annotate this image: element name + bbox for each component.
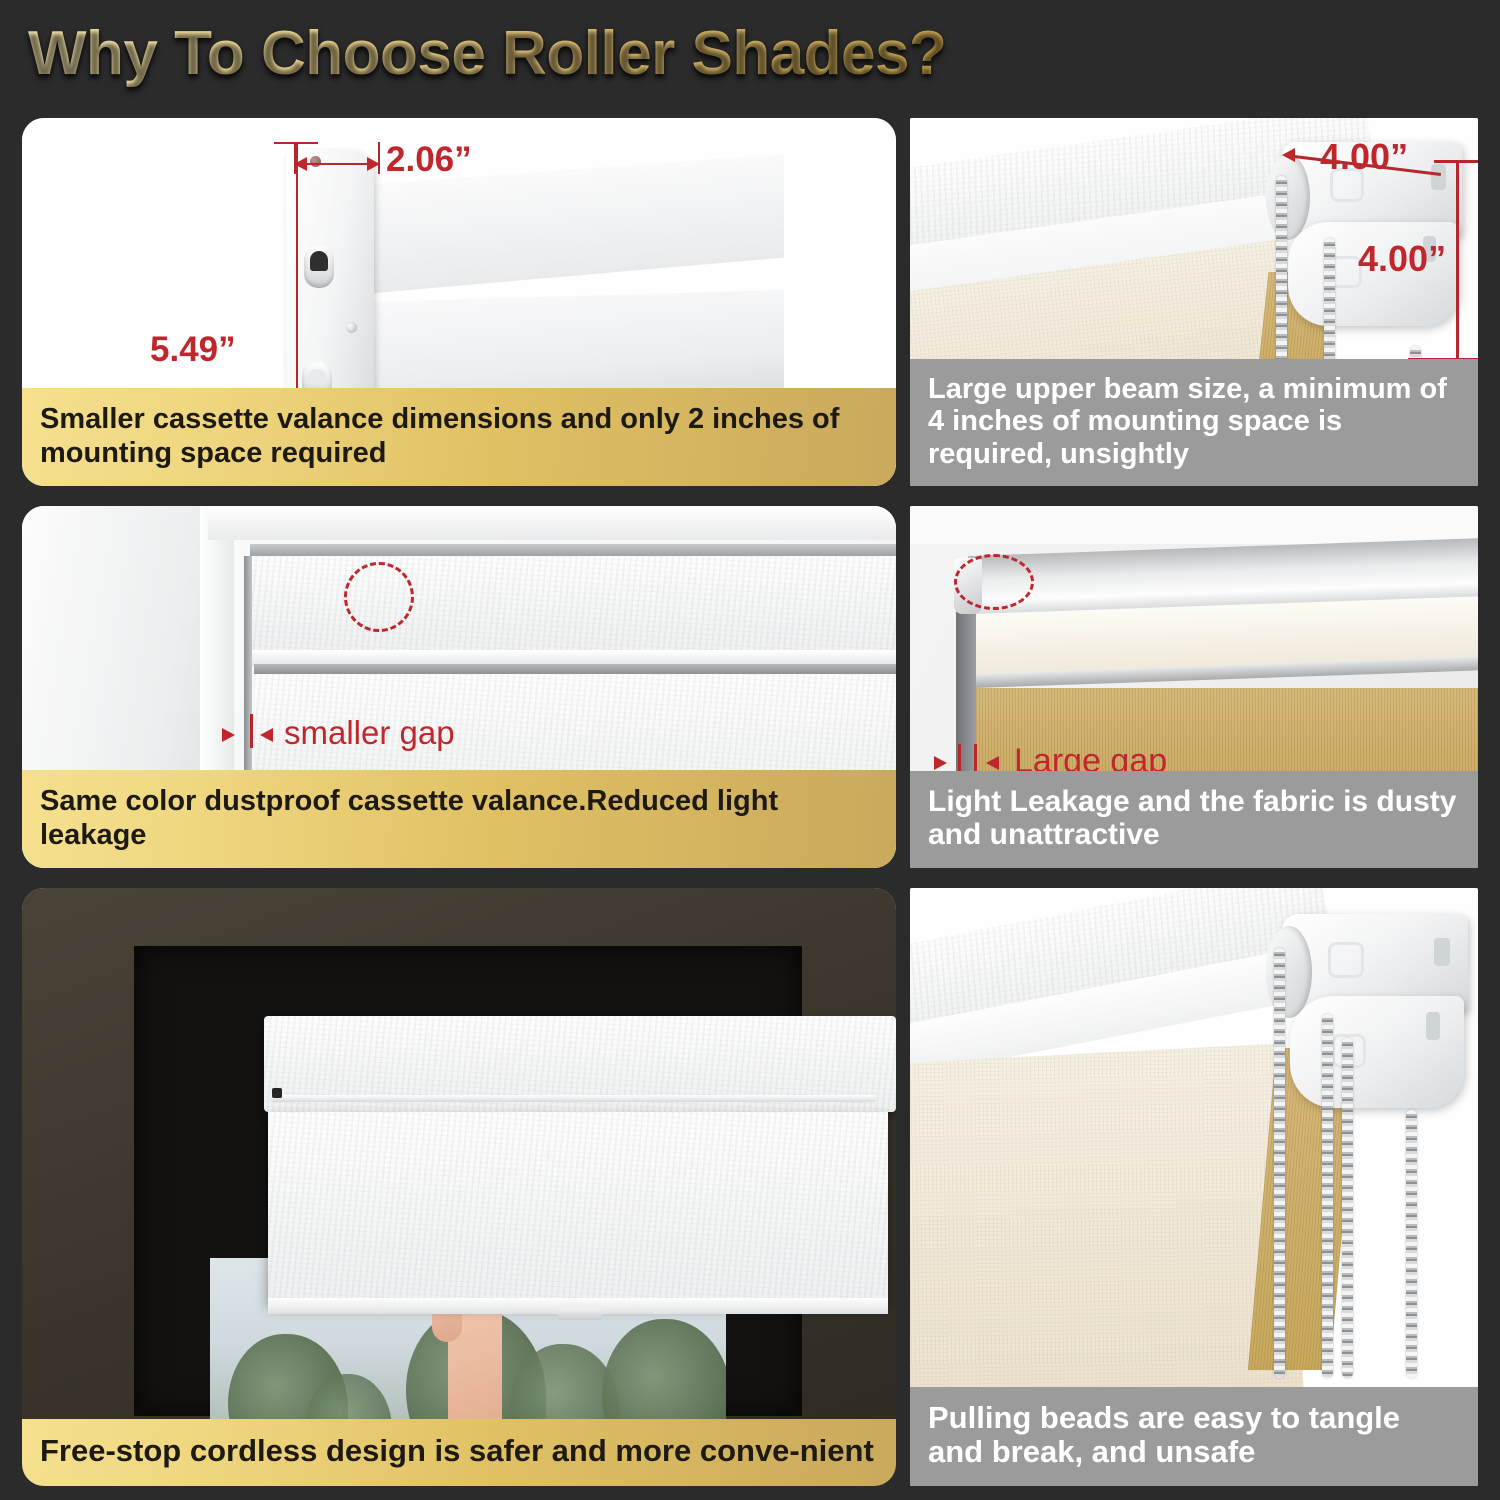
caption-large-upper-beam: Large upper beam size, a minimum of 4 in… bbox=[910, 359, 1478, 486]
width-dimension-label: 2.06” bbox=[386, 140, 472, 180]
beam-width-arrow-left bbox=[1282, 148, 1295, 162]
panel-smaller-cassette-valance: 2.06” 5.49” Smaller cassette valance dim… bbox=[22, 118, 896, 486]
mounting-bracket-lower bbox=[1290, 996, 1464, 1108]
highlight-circle-icon bbox=[344, 562, 414, 632]
scene-pull-tab bbox=[558, 1308, 602, 1320]
panel-large-upper-beam: 4.00” 4.00” Large upper beam size, a min… bbox=[910, 118, 1478, 486]
beam-height-label: 4.00” bbox=[1358, 238, 1446, 280]
infographic-page: Why To Choose Roller Shades? bbox=[0, 0, 1500, 1500]
bead-chain-1 bbox=[1274, 948, 1285, 1378]
gap-arrow-right bbox=[986, 756, 999, 770]
room-scene-photo bbox=[22, 888, 896, 1486]
highlight-circle-icon bbox=[954, 554, 1034, 610]
caption-dustproof-cassette-valance: Same color dustproof cassette valance.Re… bbox=[22, 770, 896, 868]
window-recess bbox=[134, 946, 802, 1416]
height-dimension-label: 5.49” bbox=[150, 330, 236, 370]
smaller-gap-label: smaller gap bbox=[284, 714, 455, 752]
gap-arrow-right bbox=[260, 728, 273, 742]
valance-shadow-line bbox=[250, 544, 896, 556]
width-dim-line bbox=[298, 163, 378, 165]
panel-dustproof-cassette-valance: smaller gap Same color dustproof cassett… bbox=[22, 506, 896, 868]
panel-pulling-beads: Pulling beads are easy to tangle and bre… bbox=[910, 888, 1478, 1486]
comparison-grid: 2.06” 5.49” Smaller cassette valance dim… bbox=[22, 118, 1478, 1486]
window-frame-top bbox=[208, 506, 896, 540]
bead-chain-2 bbox=[1322, 1014, 1333, 1378]
beam-height-top-tick bbox=[1434, 160, 1478, 163]
cream-fabric-panel bbox=[910, 1043, 1304, 1413]
bead-chain-3 bbox=[1342, 1038, 1353, 1378]
width-dim-arrow-right bbox=[367, 157, 380, 171]
height-dim-top-tick bbox=[274, 142, 318, 144]
gap-arrow-left bbox=[222, 728, 235, 742]
caption-light-leakage: Light Leakage and the fabric is dusty an… bbox=[910, 771, 1478, 868]
bead-chain-4 bbox=[1406, 1110, 1417, 1378]
caption-pulling-beads: Pulling beads are easy to tangle and bre… bbox=[910, 1387, 1478, 1486]
roller-end-disc bbox=[1266, 926, 1312, 1018]
gap-tick bbox=[250, 714, 253, 748]
gap-arrow-left bbox=[934, 756, 947, 770]
caption-smaller-cassette-valance: Smaller cassette valance dimensions and … bbox=[22, 388, 896, 486]
beam-width-label: 4.00” bbox=[1320, 136, 1408, 178]
beam-height-dim-line bbox=[1456, 160, 1459, 360]
panel-light-leakage: Large gap Light Leakage and the fabric i… bbox=[910, 506, 1478, 868]
panel-free-stop-cordless: Free-stop cordless design is safer and m… bbox=[22, 888, 896, 1486]
page-title: Why To Choose Roller Shades? bbox=[28, 18, 946, 89]
top-white-band bbox=[910, 506, 1478, 544]
scene-shade-fabric bbox=[268, 1112, 888, 1302]
shade-top-shadow bbox=[254, 664, 896, 674]
caption-free-stop-cordless: Free-stop cordless design is safer and m… bbox=[22, 1419, 896, 1486]
roller-end-disc bbox=[1266, 154, 1310, 240]
scene-valance bbox=[264, 1016, 896, 1112]
